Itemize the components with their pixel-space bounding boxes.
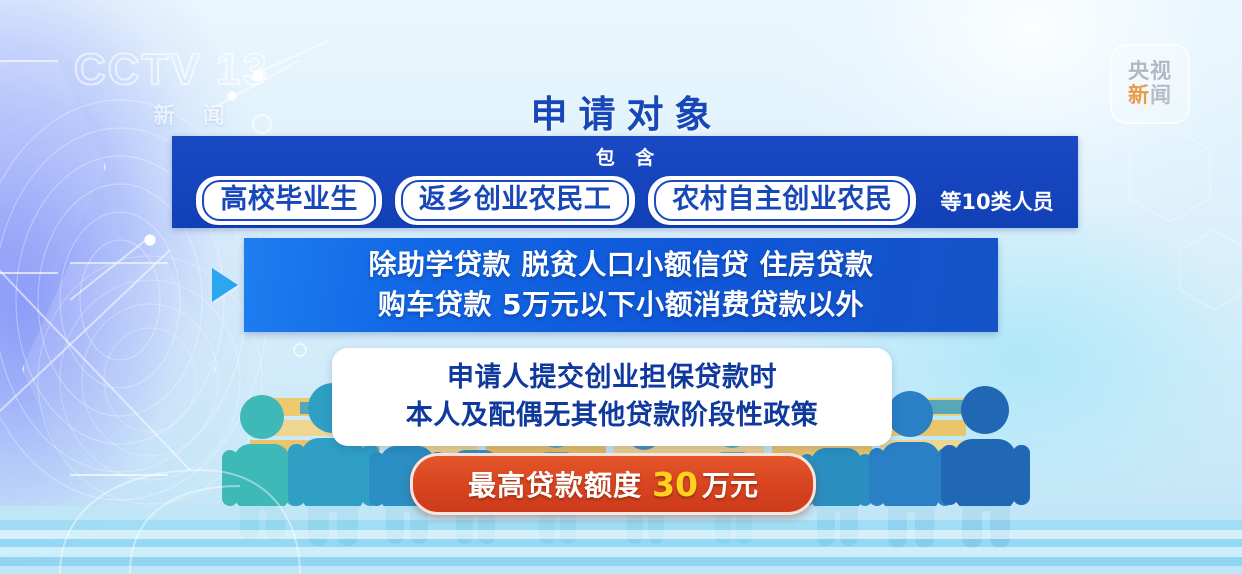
exclusions-line-1: 除助学贷款 脱贫人口小额信贷 住房贷款 [369, 245, 874, 285]
loan-cap-pill: 最高贷款额度 30 万元 [410, 453, 816, 515]
condition-box: 申请人提交创业担保贷款时 本人及配偶无其他贷款阶段性政策 [332, 348, 892, 446]
chip-graduates[interactable]: 高校毕业生 [196, 176, 382, 225]
chip-rural-self-employed-farmers-label: 农村自主创业农民 [654, 180, 910, 221]
includes-banner: 包 含 高校毕业生 返乡创业农民工 农村自主创业农民 等10类人员 [172, 136, 1078, 228]
exclusions-line-2: 购车贷款 5万元以下小额消费贷款以外 [378, 285, 864, 325]
condition-line-2: 本人及配偶无其他贷款阶段性政策 [406, 397, 819, 435]
chip-rural-self-employed-farmers[interactable]: 农村自主创业农民 [648, 176, 916, 225]
includes-header: 包 含 [172, 136, 1078, 170]
broadcast-graphic: CCTV 13 新 闻 央视 新闻 申请对象 包 含 高校毕业生 返乡创业农民工… [0, 0, 1242, 574]
arrow-right-icon [212, 268, 238, 302]
chip-graduates-label: 高校毕业生 [202, 180, 376, 221]
decorative-hexagon-lower [22, 262, 216, 476]
chip-returning-migrant-workers-label: 返乡创业农民工 [401, 180, 630, 221]
loan-cap-amount: 30 [652, 465, 698, 504]
loan-cap-unit: 万元 [702, 464, 758, 504]
loan-cap-label: 最高贷款额度 [468, 464, 642, 504]
page-title: 申请对象 [0, 84, 1242, 138]
includes-chip-row: 高校毕业生 返乡创业农民工 农村自主创业农民 等10类人员 [172, 176, 1078, 225]
corner-logo-line-1: 央视 [1128, 60, 1172, 84]
exclusions-banner: 除助学贷款 脱贫人口小额信贷 住房贷款 购车贷款 5万元以下小额消费贷款以外 [244, 238, 998, 332]
chip-returning-migrant-workers[interactable]: 返乡创业农民工 [395, 176, 636, 225]
condition-line-1: 申请人提交创业担保贷款时 [447, 359, 777, 397]
includes-tail-text: 等10类人员 [940, 186, 1053, 216]
